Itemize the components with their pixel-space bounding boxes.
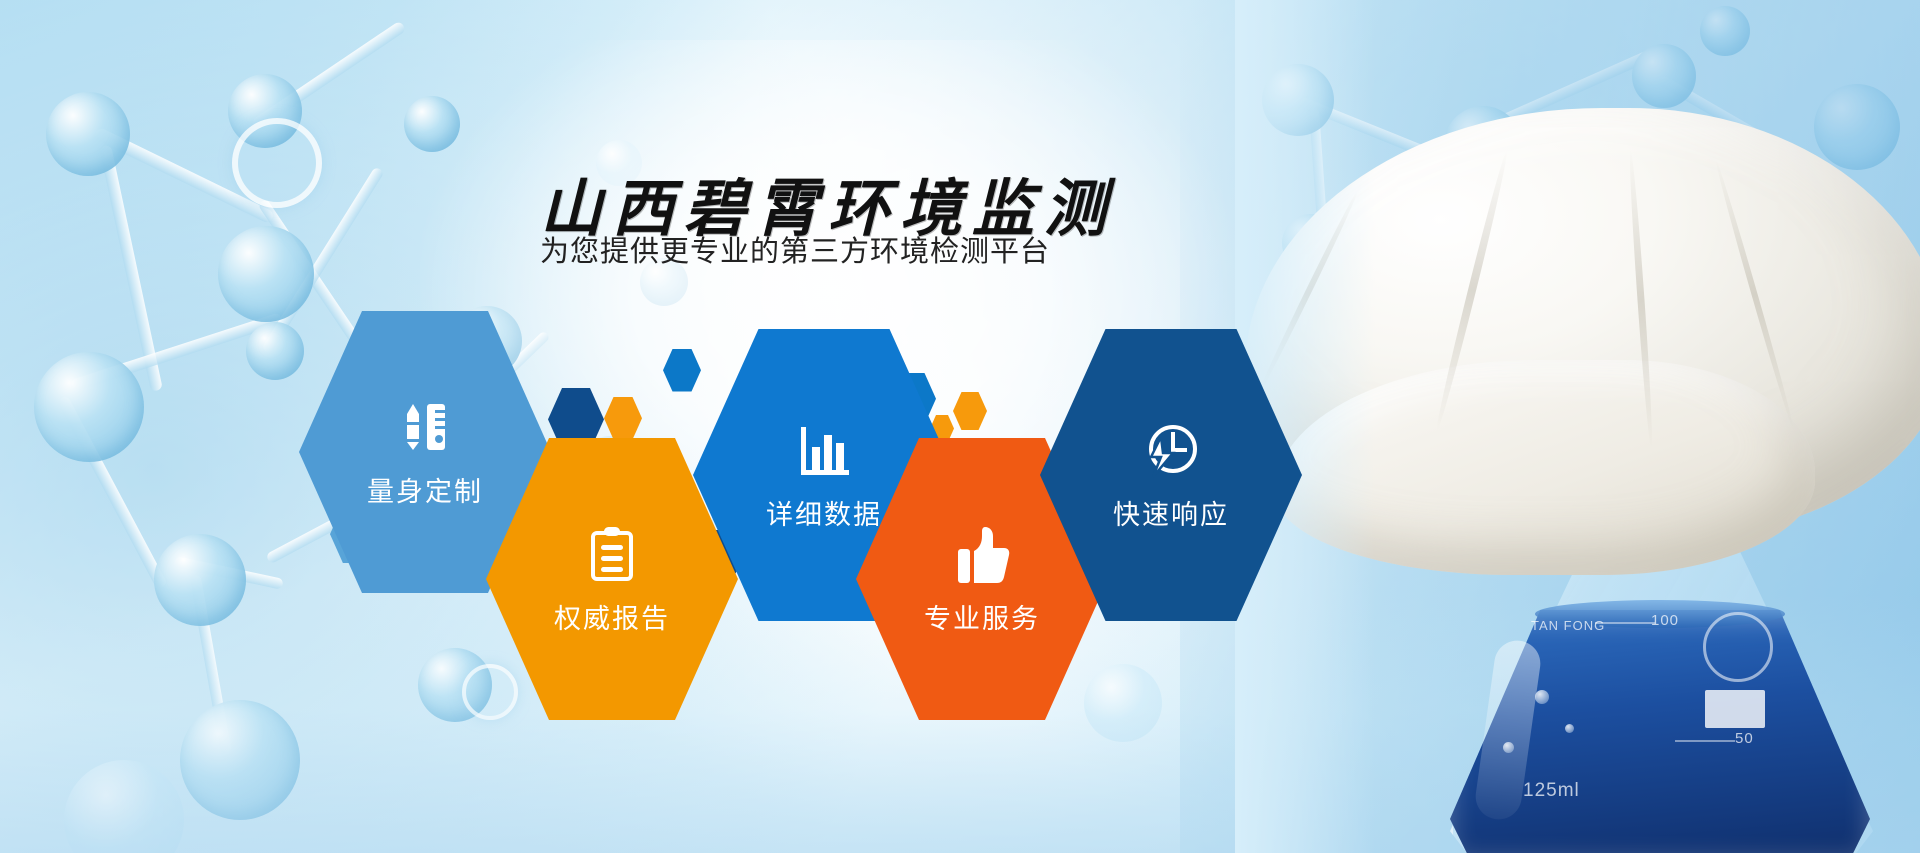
flask-graduation-50 [1675, 740, 1735, 742]
bar-chart-icon [792, 419, 856, 483]
clock-lightning-icon [1139, 419, 1203, 483]
flask-brand-text: TAN FONG [1531, 618, 1605, 633]
water-droplet-2 [1565, 724, 1574, 733]
feature-label: 专业服务 [924, 597, 1040, 636]
pencil-ruler-icon [393, 396, 457, 460]
thumbs-up-icon [950, 523, 1014, 587]
flask-mark-100-text: 100 [1651, 612, 1679, 629]
feature-label: 量身定制 [367, 470, 483, 509]
feature-label: 权威报告 [554, 597, 670, 636]
page-subtitle: 为您提供更专业的第三方环境检测平台 [540, 228, 1040, 270]
feature-label: 详细数据 [766, 493, 882, 532]
hero-banner: TAN FONG 100 50 125ml 山西碧霄环境监测 为您提供更专业的第… [0, 0, 1920, 853]
flask-volume-text: 125ml [1523, 780, 1580, 802]
clipboard-report-icon [580, 523, 644, 587]
lab-photo: TAN FONG 100 50 125ml [1235, 0, 1920, 853]
water-droplet-1 [1535, 690, 1549, 704]
water-droplet-3 [1503, 742, 1514, 753]
ring-decoration-1 [232, 118, 322, 208]
flask-mark-50-text: 50 [1735, 730, 1754, 747]
feature-label: 快速响应 [1113, 493, 1229, 532]
flask-sticker [1705, 690, 1765, 728]
flask-logo [1703, 612, 1773, 682]
